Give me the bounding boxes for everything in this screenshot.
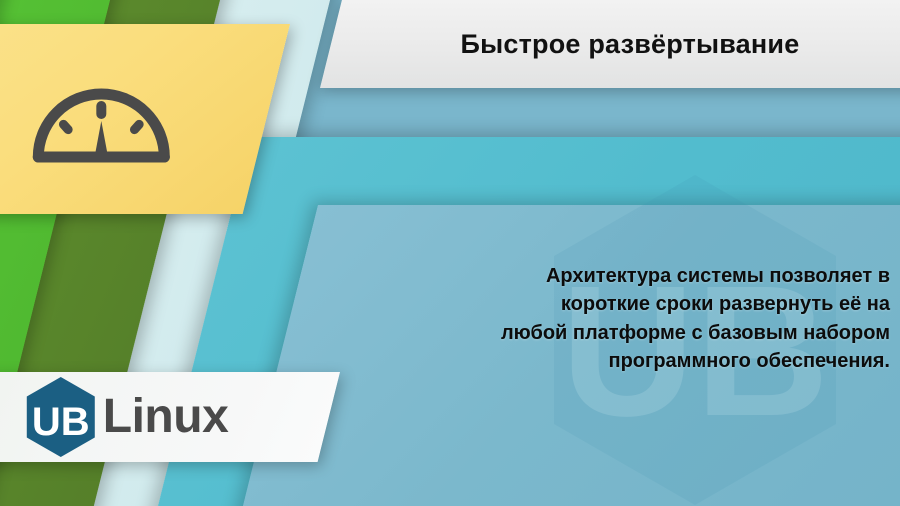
body-line-4: программного обеспечения.: [420, 347, 890, 375]
feature-icon-card: [0, 24, 290, 214]
ub-hexagon-logo-icon: UB: [25, 376, 97, 458]
body-line-3: любой платформе с базовым набором: [420, 319, 890, 347]
logo-bar: UB Linux: [0, 372, 340, 462]
slide-canvas: UB Быстрое развёртывание Архитектура сис…: [0, 0, 900, 506]
body-text-block: Архитектура системы позволяет в короткие…: [420, 262, 890, 376]
ub-logo-mark-text: UB: [32, 400, 90, 444]
logo-wordmark: Linux: [103, 393, 229, 441]
page-title: Быстрое развёртывание: [461, 29, 800, 60]
title-bar-text-wrapper: Быстрое развёртывание: [330, 0, 900, 88]
body-line-1: Архитектура системы позволяет в: [420, 262, 890, 290]
body-line-2: короткие сроки развернуть её на: [420, 290, 890, 318]
gauge-icon: [26, 69, 176, 169]
